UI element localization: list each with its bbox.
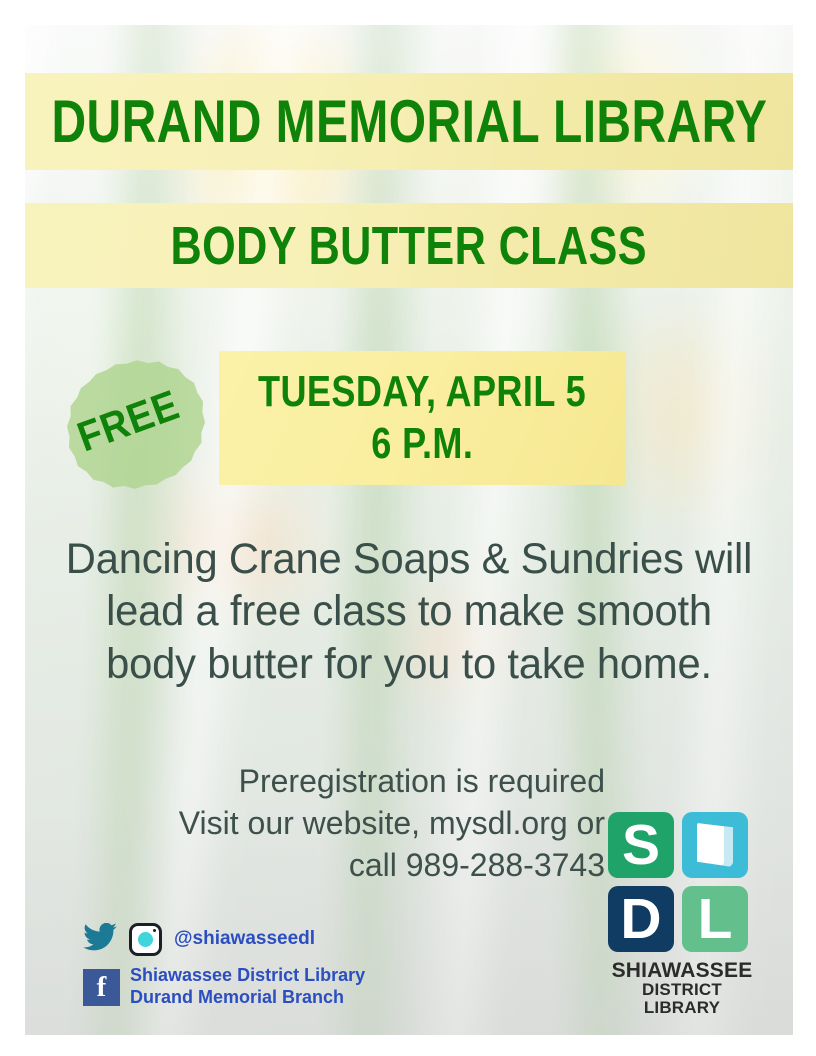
page-title: DURAND MEMORIAL LIBRARY (51, 92, 767, 152)
logo-organization-name: SHIAWASSEE (608, 960, 756, 981)
facebook-page-name[interactable]: Shiawassee District Library Durand Memor… (130, 965, 365, 1009)
facebook-line-2: Durand Memorial Branch (130, 987, 344, 1007)
registration-line-1: Preregistration is required (85, 760, 605, 802)
poster: DURAND MEMORIAL LIBRARY BODY BUTTER CLAS… (25, 25, 793, 1035)
facebook-icon[interactable]: f (83, 969, 120, 1006)
logo-tile-s: S (608, 812, 674, 878)
instagram-flash-dot (153, 929, 156, 932)
social-links: @shiawasseedl f Shiawassee District Libr… (83, 918, 443, 1010)
subtitle-banner: BODY BUTTER CLASS (25, 203, 793, 288)
free-badge: FREE (52, 345, 205, 500)
event-subtitle: BODY BUTTER CLASS (171, 219, 647, 273)
event-time: 6 P.M. (371, 421, 473, 467)
logo-tile-d: D (608, 886, 674, 952)
title-banner: DURAND MEMORIAL LIBRARY (25, 73, 793, 170)
logo-tagline: DISTRICT LIBRARY (608, 981, 756, 1016)
registration-line-3: call 989-288-3743 (85, 844, 605, 886)
event-date: TUESDAY, APRIL 5 (258, 369, 586, 415)
social-row-handles: @shiawasseedl (83, 918, 443, 960)
social-handle[interactable]: @shiawasseedl (174, 928, 315, 950)
facebook-line-1: Shiawassee District Library (130, 965, 365, 985)
twitter-icon[interactable] (83, 923, 117, 956)
logo-tile-l: L (682, 886, 748, 952)
date-time-panel: TUESDAY, APRIL 5 6 P.M. (219, 351, 626, 485)
open-book-icon (697, 823, 733, 867)
logo-tile-grid: S D L (608, 812, 748, 952)
registration-line-2: Visit our website, mysdl.org or (85, 802, 605, 844)
instagram-icon[interactable] (129, 923, 162, 956)
logo-tile-book (682, 812, 748, 878)
logo-wordmark: SHIAWASSEE DISTRICT LIBRARY (608, 960, 756, 1016)
sdl-logo: S D L SHIAWASSEE DISTRICT LIBRARY (608, 812, 756, 997)
registration-info: Preregistration is required Visit our we… (85, 760, 605, 887)
social-row-facebook: f Shiawassee District Library Durand Mem… (83, 964, 443, 1010)
event-description: Dancing Crane Soaps & Sundries will lead… (64, 533, 755, 690)
